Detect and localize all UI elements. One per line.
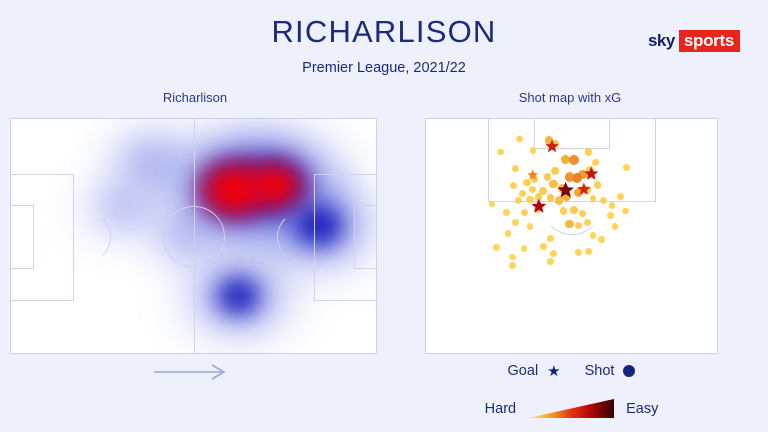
shot-marker-shot [612, 223, 619, 230]
xg-colour-scale: Hard Easy [425, 396, 718, 422]
legend-shot-label: Shot [585, 363, 615, 379]
shot-marker-shot [523, 179, 530, 186]
shot-marker-shot [623, 164, 630, 171]
shotmap-caption: Shot map with xG [420, 90, 720, 105]
shot-marker-shot [540, 243, 547, 250]
shot-marker-goal [584, 166, 599, 181]
shot-marker-shot [515, 197, 522, 204]
centre-circle [163, 206, 225, 268]
legend-goal-label: Goal [508, 363, 539, 379]
shot-marker-shot [509, 262, 516, 269]
shot-marker-shot [560, 207, 567, 214]
page-subtitle: Premier League, 2021/22 [0, 60, 768, 76]
xg-gradient-wedge [528, 398, 614, 420]
shot-marker-shot [598, 236, 605, 243]
logo-sports-text: sports [679, 30, 740, 52]
shot-marker-goal [577, 182, 591, 196]
shot-marker-goal [557, 181, 574, 198]
penalty-arc-left [59, 211, 111, 263]
shot-marker-shot [600, 197, 607, 204]
shot-marker-shot [551, 167, 558, 174]
scale-high-label: Easy [626, 401, 658, 417]
scale-low-label: Hard [485, 401, 516, 417]
shot-marker-shot [512, 165, 519, 172]
marker-legend: Goal ★ Shot [425, 363, 718, 379]
shot-marker-shot [519, 190, 526, 197]
shot-marker-goal [545, 139, 559, 153]
star-icon: ★ [547, 364, 560, 379]
heatmap-caption: Richarlison [10, 90, 380, 105]
shot-marker-shot [547, 258, 554, 265]
shot-marker-shot [575, 222, 582, 229]
shot-marker-shot [509, 254, 516, 261]
goal-area-right [354, 205, 377, 269]
shot-marker-shot [607, 212, 614, 219]
arrow-right-icon [152, 362, 232, 382]
shot-marker-shot [575, 249, 582, 256]
shot-marker-shot [527, 223, 534, 230]
shot-marker-shot [590, 195, 597, 202]
shot-marker-shot [585, 148, 592, 155]
shot-marker-shot [550, 250, 557, 257]
shot-marker-shot [547, 235, 554, 242]
shot-marker-shot [565, 220, 574, 229]
heatmap-pitch [10, 118, 377, 354]
shot-marker-shot [609, 202, 616, 209]
shot-marker-shot [570, 206, 578, 214]
shot-marker-shot [510, 182, 517, 189]
sky-sports-logo: sky sports [648, 30, 740, 51]
goal-area-left [10, 205, 34, 269]
shot-marker-shot [622, 208, 629, 215]
shot-marker-shot [493, 244, 500, 251]
shot-marker-goal [531, 198, 547, 214]
shot-marker-shot [590, 232, 597, 239]
shot-marker-shot [512, 219, 519, 226]
shot-marker-shot [584, 219, 591, 226]
shot-marker-shot [521, 209, 528, 216]
heatmap-core [212, 273, 266, 319]
shot-marker-shot [503, 209, 510, 216]
logo-sky-text: sky [648, 30, 679, 51]
shot-marker-shot [521, 245, 528, 252]
shot-marker-goal [527, 169, 538, 180]
shot-marker-shot [594, 181, 601, 188]
shot-marker-shot [585, 248, 592, 255]
penalty-arc-right [277, 211, 329, 263]
shot-marker-shot [489, 201, 496, 208]
heatmap-peak [240, 157, 311, 214]
circle-icon [623, 365, 635, 377]
shotmap-pitch [425, 118, 718, 354]
screenshot-root: RICHARLISON Premier League, 2021/22 sky … [0, 0, 768, 432]
shot-marker-shot [505, 230, 512, 237]
